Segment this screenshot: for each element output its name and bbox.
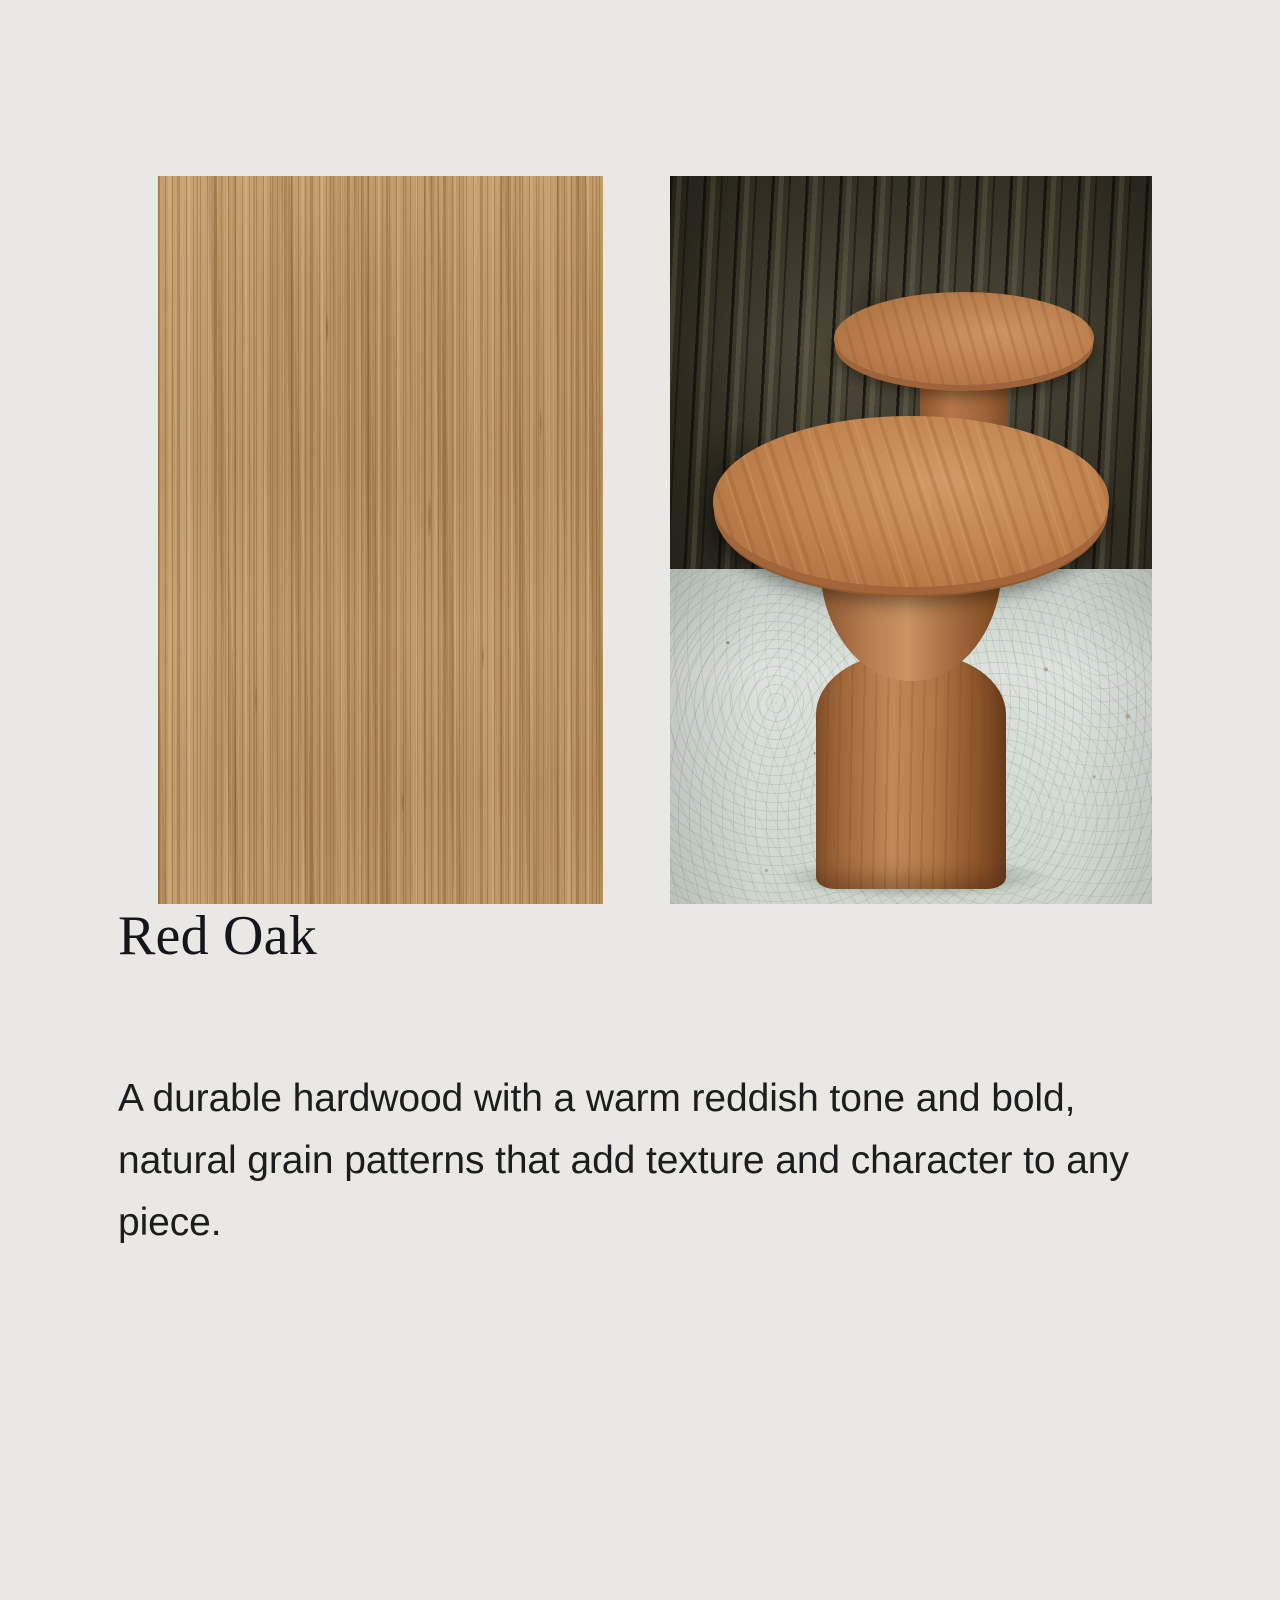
lifestyle-photo[interactable] [670, 176, 1152, 904]
page-title: Red Oak [118, 906, 317, 966]
wood-grain-flecks [158, 176, 603, 904]
photo-scene [670, 176, 1152, 904]
media-row [118, 160, 1112, 888]
front-table-top [713, 416, 1108, 586]
front-side-table [713, 416, 1108, 889]
material-description: A durable hardwood with a warm reddish t… [118, 1068, 1163, 1254]
wood-grain-swatch[interactable] [158, 176, 603, 904]
rear-table-top [834, 292, 1094, 385]
front-table-base [816, 653, 1006, 890]
material-card-page: Red Oak A durable hardwood with a warm r… [0, 0, 1280, 1600]
